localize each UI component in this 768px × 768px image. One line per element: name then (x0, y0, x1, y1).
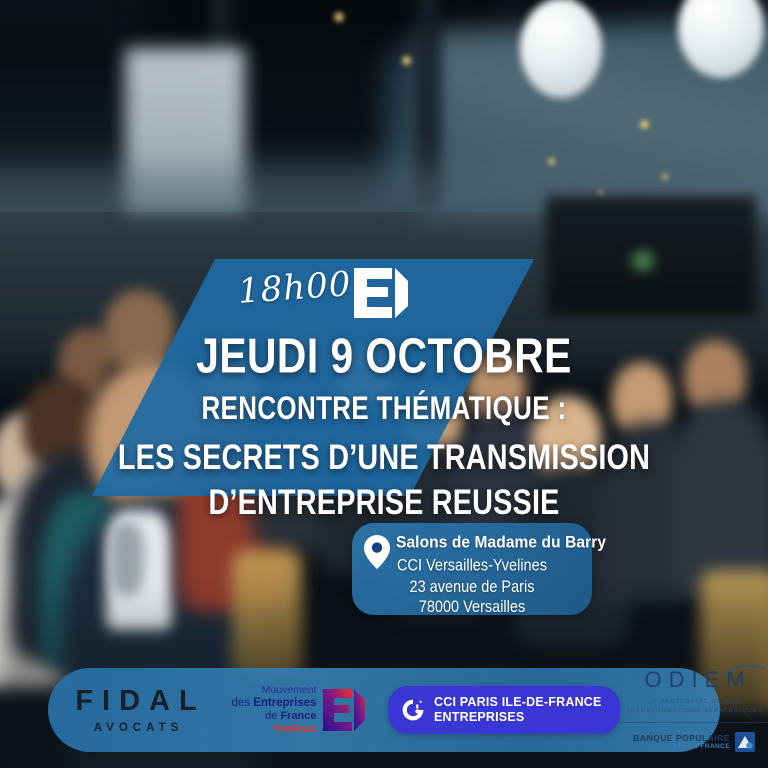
cci-line-2: ENTREPRISES (434, 710, 602, 725)
medef-e-icon (352, 262, 410, 324)
event-headline-line-2: D’ENTREPRISE REUSSIE (15, 481, 752, 526)
foreground-person-tie (110, 522, 144, 596)
address-line-2: 23 avenue de Paris (364, 577, 580, 598)
medef-line-3-bold: France (280, 710, 316, 722)
medef-wordmark: Mouvement des Entreprises de France Yvel… (231, 685, 316, 735)
medef-line-2-bold: Entreprises (253, 697, 316, 709)
medef-line-4: Yvelines (231, 723, 316, 736)
divider (620, 722, 768, 723)
medef-line-1: Mouvement (231, 685, 316, 697)
event-poster: 18h00 JEUDI 9 OCTOBRE RENCONTRE THÉMATIQ… (0, 0, 768, 768)
screen-glow (626, 248, 660, 274)
odiem-name: ODIEM (620, 667, 768, 693)
fidal-name: FIDAL (66, 687, 205, 716)
medef-line-3: de France (231, 710, 316, 723)
odiem-tagline-line-2: TRANSFORMATIONS STRATEGIQUES (620, 707, 768, 716)
odiem-logo: ODIEM LE PARTENAIRE DE VOS TRANSFORMATIO… (620, 667, 768, 753)
banque-populaire-line-2: VAL DE FRANCE (633, 743, 730, 751)
logo-cci-paris-idf: CCI PARIS ILE-DE-FRANCE ENTREPRISES (388, 668, 620, 752)
cci-badge: CCI PARIS ILE-DE-FRANCE ENTREPRISES (388, 686, 620, 734)
venue-address: CCI Versailles-Yvelines 23 avenue de Par… (364, 556, 580, 618)
odiem-tagline-line-1: LE PARTENAIRE DE VOS (620, 698, 768, 707)
logo-fidal: FIDAL AVOCATS (48, 668, 224, 752)
event-date: JEUDI 9 OCTOBRE (12, 330, 757, 382)
pendant-lamp-1 (520, 0, 602, 98)
cci-logo-icon (401, 698, 425, 722)
headline-block: JEUDI 9 OCTOBRE RENCONTRE THÉMATIQUE : L… (0, 330, 768, 513)
ceiling-light-dot (332, 10, 346, 24)
cci-label: CCI PARIS ILE-DE-FRANCE ENTREPRISES (434, 695, 602, 725)
location-card: Salons de Madame du Barry CCI Versailles… (352, 523, 592, 615)
event-subtitle: RENCONTRE THÉMATIQUE : (15, 390, 752, 427)
medef-line-2-prefix: des (231, 697, 253, 709)
medef-line-3-prefix: de (265, 710, 280, 722)
fidal-subtitle: AVOCATS (89, 722, 184, 734)
logo-medef-yvelines: Mouvement des Entreprises de France Yvel… (224, 668, 374, 752)
cci-line-1: CCI PARIS ILE-DE-FRANCE (434, 695, 602, 710)
address-line-1: CCI Versailles-Yvelines (364, 556, 580, 577)
event-time: 18h00 (237, 264, 353, 312)
ceiling-light-dot (638, 118, 651, 131)
address-line-3: 78000 Versailles (364, 598, 580, 619)
banque-populaire-wordmark: BANQUE POPULAIRE VAL DE FRANCE (633, 733, 730, 751)
odiem-tagline: LE PARTENAIRE DE VOS TRANSFORMATIONS STR… (620, 698, 768, 715)
medef-line-2: des Entreprises (231, 697, 316, 710)
medef-e-icon (321, 685, 367, 735)
partner-logo-bar: FIDAL AVOCATS Mouvement des Entreprises … (48, 668, 720, 752)
event-headline: LES SECRETS D’UNE TRANSMISSION D’ENTREPR… (15, 436, 752, 527)
banque-populaire-icon (734, 731, 756, 753)
banque-populaire-line-1: BANQUE POPULAIRE (633, 733, 730, 743)
venue-name: Salons de Madame du Barry (396, 533, 580, 553)
logo-odiem-group: ODIEM LE PARTENAIRE DE VOS TRANSFORMATIO… (620, 668, 768, 752)
ceiling-light-dot (400, 54, 413, 67)
event-headline-line-1: LES SECRETS D’UNE TRANSMISSION (15, 436, 752, 481)
ceiling-light-dot (546, 156, 557, 167)
logo-banque-populaire: BANQUE POPULAIRE VAL DE FRANCE (620, 731, 768, 753)
